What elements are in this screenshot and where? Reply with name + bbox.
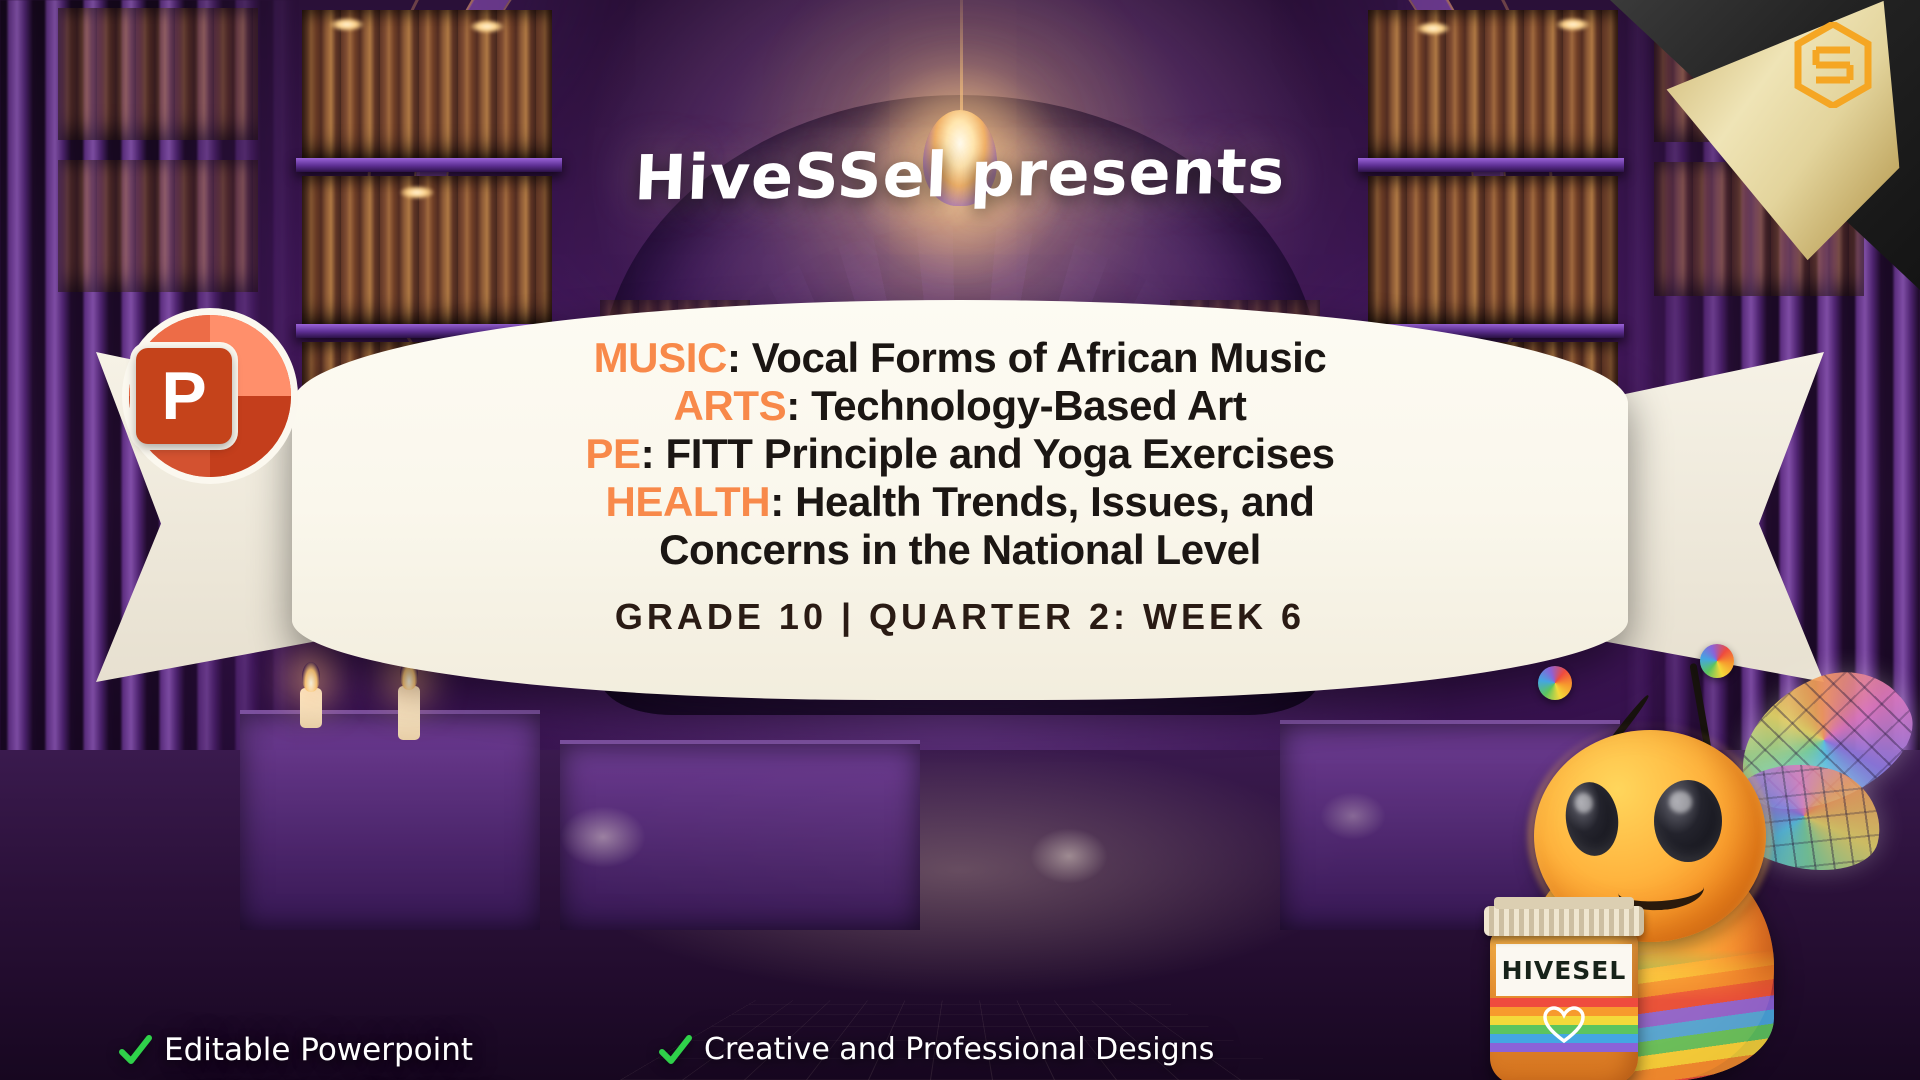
- subject-line: ARTS: Technology-Based Art: [96, 382, 1824, 430]
- check-icon: [658, 1033, 692, 1067]
- jar-label-text: HIVESEL: [1502, 956, 1627, 985]
- antenna-tip-icon: [1700, 644, 1734, 678]
- shelf-light: [1556, 18, 1590, 31]
- list-item: Creative and Professional Designs: [658, 1032, 1218, 1067]
- feature-column-left: Editable Powerpoint Curriculum Alignment…: [118, 1032, 588, 1080]
- subject-separator: :: [770, 478, 795, 525]
- subject-line: HEALTH: Health Trends, Issues, and: [96, 478, 1824, 526]
- jar-body: HIVESEL: [1490, 928, 1638, 1080]
- subject-line: PE: FITT Principle and Yoga Exercises: [96, 430, 1824, 478]
- subject-title: Vocal Forms of African Music: [752, 334, 1327, 381]
- shelf-light: [330, 18, 364, 31]
- subject-tag: HEALTH: [605, 478, 770, 525]
- cabinet: [240, 710, 540, 930]
- subject-tag: PE: [585, 430, 640, 477]
- subject-separator: :: [727, 334, 752, 381]
- eye-highlight: [1669, 791, 1692, 812]
- subject-line: MUSIC: Vocal Forms of African Music: [96, 334, 1824, 382]
- list-item: Editable Powerpoint: [118, 1032, 588, 1068]
- subject-separator: :: [786, 382, 811, 429]
- feature-column-right: Creative and Professional Designs Quiz a…: [658, 1032, 1218, 1080]
- promotional-graphic: HiveSSel presents MUSIC: Vocal Forms of …: [0, 0, 1920, 1080]
- bookshelf: [302, 10, 552, 160]
- subject-title: FITT Principle and Yoga Exercises: [665, 430, 1334, 477]
- moth-icon: [560, 806, 646, 868]
- subject-title: Health Trends, Issues, and: [795, 478, 1314, 525]
- antenna-tip-icon: [1538, 666, 1572, 700]
- jar-lid: [1484, 906, 1644, 936]
- shelf-light: [470, 20, 504, 33]
- bee-eye: [1654, 780, 1722, 862]
- hivesel-hex-logo[interactable]: [1794, 22, 1872, 108]
- check-icon: [118, 1033, 152, 1067]
- honey-jar: HIVESEL: [1490, 928, 1638, 1080]
- heart-icon: [1543, 1006, 1585, 1044]
- moth-icon: [1030, 828, 1108, 884]
- subject-separator: :: [641, 430, 666, 477]
- jar-label: HIVESEL: [1496, 944, 1632, 996]
- powerpoint-badge[interactable]: P: [122, 308, 298, 484]
- hivesel-bee-mascot: HIVESEL: [1438, 656, 1908, 1080]
- subject-line-continuation: Concerns in the National Level: [96, 526, 1824, 574]
- subject-title: Technology-Based Art: [811, 382, 1246, 429]
- feature-label: Creative and Professional Designs: [704, 1032, 1214, 1067]
- banner-content: MUSIC: Vocal Forms of African Music ARTS…: [96, 334, 1824, 638]
- shelf-light: [1416, 22, 1450, 35]
- lamp-cord: [960, 0, 963, 120]
- subject-tag: ARTS: [674, 382, 787, 429]
- grade-quarter-week-line: GRADE 10 | QUARTER 2: WEEK 6: [96, 596, 1824, 638]
- powerpoint-letter: P: [161, 362, 206, 430]
- moth-icon: [1320, 792, 1386, 840]
- bookshelf: [58, 8, 258, 140]
- powerpoint-tile: P: [136, 348, 232, 444]
- eye-highlight: [1574, 792, 1594, 814]
- subject-tag: MUSIC: [594, 334, 727, 381]
- feature-label: Editable Powerpoint: [164, 1032, 473, 1068]
